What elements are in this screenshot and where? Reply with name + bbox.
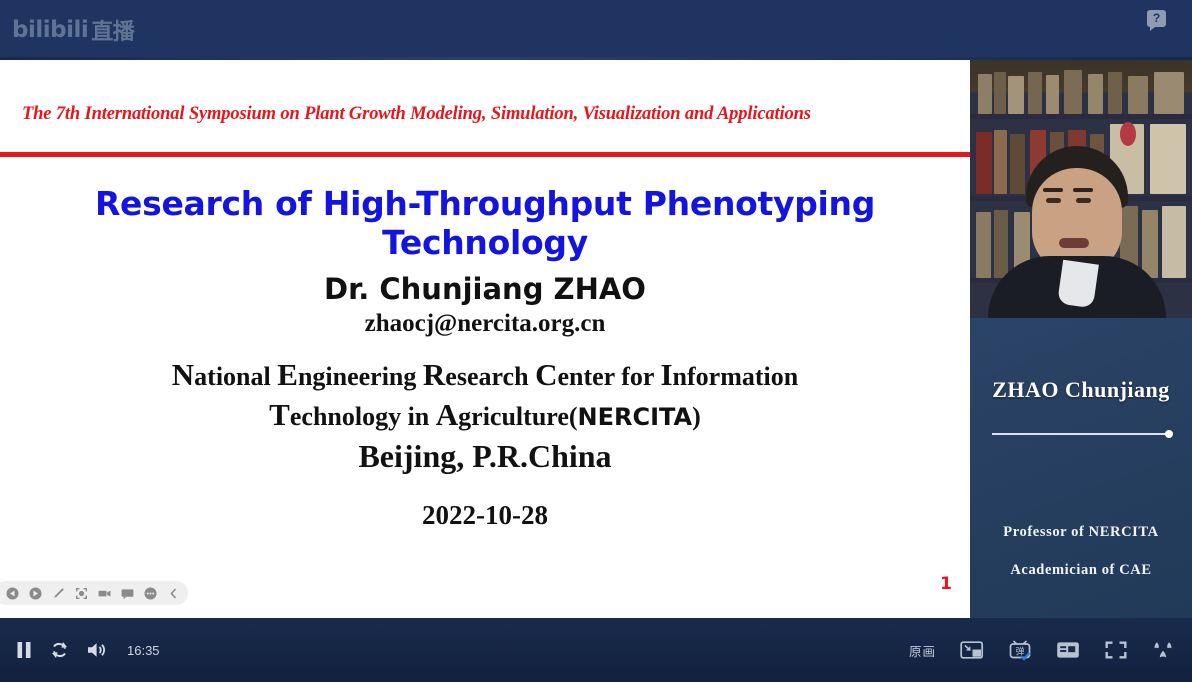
slide-header: The 7th International Symposium on Plant… <box>0 60 970 158</box>
speaker-role-secondary: Academician of CAE <box>970 562 1192 579</box>
affil-acronym: NERCITA <box>578 403 693 431</box>
slide-page-number: 1 <box>940 574 952 594</box>
help-icon[interactable]: ? <box>1147 10 1166 27</box>
logo-text-cn: 直播 <box>91 14 134 46</box>
affil-text: griculture( <box>458 402 577 431</box>
focus-target-icon[interactable] <box>75 587 88 600</box>
affil-cap-c: C <box>535 357 557 392</box>
pause-button[interactable] <box>16 640 32 660</box>
author-name: Dr. Chunjiang ZHAO <box>0 272 970 306</box>
divider-dot <box>1165 430 1173 438</box>
speaker-webcam-feed <box>970 60 1192 318</box>
refresh-icon[interactable] <box>50 640 69 660</box>
live-stream-player: bilibili 直播 ? The 7th International Symp… <box>0 0 1192 682</box>
presentation-date: 2022-10-28 <box>0 500 970 531</box>
affil-text: echnology in <box>290 402 436 431</box>
affil-text: ) <box>692 402 701 431</box>
player-control-bar: 16:35 原画 弹 <box>0 618 1192 682</box>
header-divider <box>0 152 970 157</box>
subtitle-panel-icon[interactable] <box>1056 640 1080 660</box>
speaker-role-primary: Professor of NERCITA <box>970 524 1192 541</box>
widescreen-icon[interactable] <box>1104 640 1128 660</box>
stream-time: 16:35 <box>127 643 160 658</box>
affil-cap-e: E <box>277 357 298 392</box>
svg-text:弹: 弹 <box>1015 645 1024 657</box>
player-left-controls: 16:35 <box>16 618 160 682</box>
camera-icon[interactable] <box>98 587 111 600</box>
presentation-slide: The 7th International Symposium on Plant… <box>0 60 970 618</box>
affiliation: National Engineering Research Center for… <box>0 356 970 436</box>
affil-cap-n: N <box>172 357 194 392</box>
location: Beijing, P.R.China <box>0 438 970 475</box>
symposium-title: The 7th International Symposium on Plant… <box>22 104 811 125</box>
affil-text: ational <box>194 362 277 391</box>
top-bar: bilibili 直播 ? <box>0 0 1192 60</box>
volume-icon[interactable] <box>87 640 107 660</box>
chat-bubble-icon[interactable] <box>121 587 134 600</box>
player-right-controls: 原画 弹 <box>909 618 1174 682</box>
affil-cap-t: T <box>269 397 290 432</box>
bilibili-live-logo[interactable]: bilibili 直播 <box>12 14 142 46</box>
more-dots-icon[interactable] <box>144 587 157 600</box>
affil-text: enter for <box>557 362 660 391</box>
slide-main-title: Research of High-Throughput Phenotyping … <box>0 184 970 262</box>
quality-button[interactable]: 原画 <box>909 641 936 660</box>
speaker-name: ZHAO Chunjiang <box>970 377 1192 403</box>
next-circle-icon[interactable] <box>29 587 42 600</box>
speaker-panel: ZHAO Chunjiang Professor of NERCITA Acad… <box>970 60 1192 618</box>
affil-cap-i: I <box>660 357 672 392</box>
pip-icon[interactable] <box>960 640 984 660</box>
logo-text: bilibili <box>12 17 88 43</box>
affil-cap-a: A <box>436 397 458 432</box>
affiliation-line-2: Technology in Agriculture(NERCITA) <box>0 396 970 436</box>
affil-text: esearch <box>445 362 535 391</box>
author-email: zhaocj@nercita.org.cn <box>0 310 970 338</box>
danmaku-tv-icon[interactable]: 弹 <box>1008 639 1032 661</box>
affil-text: nformation <box>673 362 799 391</box>
prev-circle-icon[interactable] <box>6 587 19 600</box>
affil-text: ngineering <box>298 362 423 391</box>
pencil-icon[interactable] <box>52 587 65 600</box>
speaker-divider <box>992 433 1170 435</box>
affil-cap-r: R <box>423 357 445 392</box>
chevron-left-icon[interactable] <box>167 587 180 600</box>
speaker-figure <box>1002 146 1152 318</box>
affiliation-line-1: National Engineering Research Center for… <box>0 356 970 396</box>
web-fullscreen-icon[interactable] <box>1152 640 1174 660</box>
slide-control-toolbar[interactable] <box>0 581 188 605</box>
